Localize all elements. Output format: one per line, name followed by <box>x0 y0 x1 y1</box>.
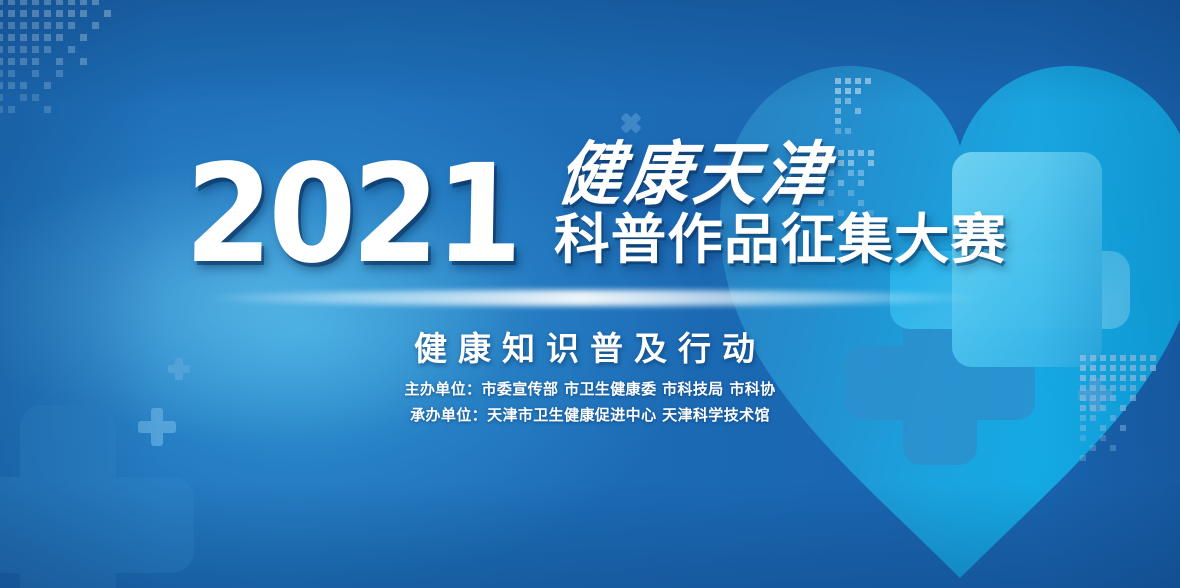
organizer-block: 主办单位：市委宣传部 市卫生健康委 市科技局 市科协 承办单位：天津市卫生健康促… <box>0 376 1180 428</box>
organizer-line-undertaker: 承办单位：天津市卫生健康促进中心 天津科学技术馆 <box>0 402 1180 428</box>
title-calligraphy: 健康天津 <box>554 141 1002 210</box>
light-streak <box>200 290 990 306</box>
health-tianjin-banner: 2021 健康天津 科普作品征集大赛 健康知识普及行动 主办单位：市委宣传部 市… <box>0 0 1180 588</box>
organizer-line-host: 主办单位：市委宣传部 市卫生健康委 市科技局 市科协 <box>0 376 1180 402</box>
title-bold: 科普作品征集大赛 <box>554 212 1007 269</box>
year-text: 2021 <box>184 150 520 281</box>
main-title-row: 2021 健康天津 科普作品征集大赛 <box>0 150 1180 281</box>
banner-content: 2021 健康天津 科普作品征集大赛 健康知识普及行动 主办单位：市委宣传部 市… <box>0 0 1180 588</box>
subtitle-text: 健康知识普及行动 <box>0 322 1180 370</box>
